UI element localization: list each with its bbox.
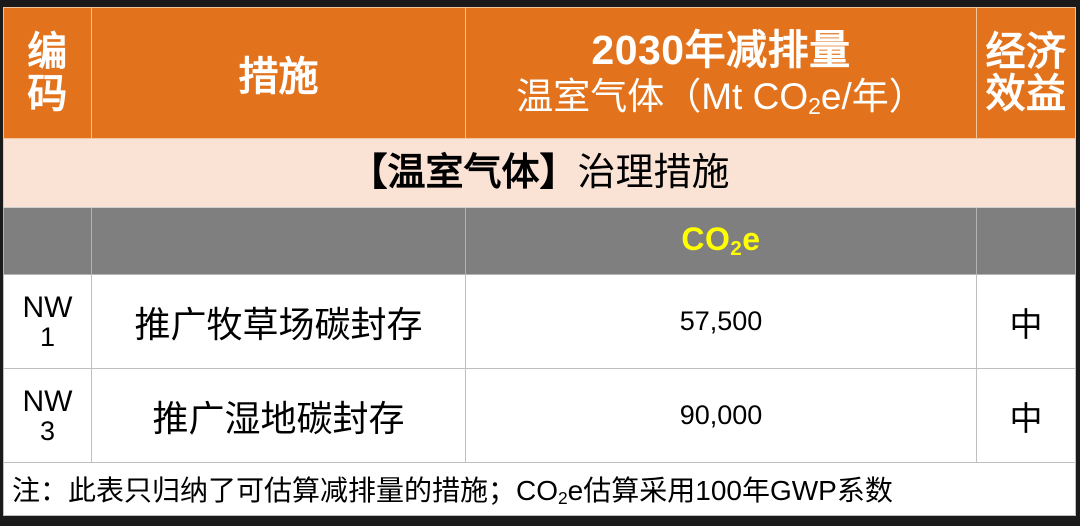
column-header-reduction-line1: 2030年减排量 bbox=[466, 26, 976, 74]
table-row: NW 3 推广湿地碳封存 90,000 中 bbox=[4, 369, 1076, 463]
cell-code: NW 1 bbox=[4, 275, 92, 369]
gas-subheader-row: CO2e bbox=[4, 208, 1076, 275]
cell-economic-benefit: 中 bbox=[977, 275, 1076, 369]
gas-subheader-econ-cell bbox=[977, 208, 1076, 275]
table-header-row: 编 码 措施 2030年减排量 温室气体（Mt CO2e/年） 经济 bbox=[4, 8, 1076, 139]
footnote-prefix: 注：此表只归纳了可估算减排量的措施；CO bbox=[12, 475, 558, 506]
emission-measures-table: 编 码 措施 2030年减排量 温室气体（Mt CO2e/年） 经济 bbox=[3, 7, 1076, 516]
footnote-cell: 注：此表只归纳了可估算减排量的措施；CO2e估算采用100年GWP系数 bbox=[4, 463, 1076, 516]
table-footnote-row: 注：此表只归纳了可估算减排量的措施；CO2e估算采用100年GWP系数 bbox=[4, 463, 1076, 516]
footnote-text: 注：此表只归纳了可估算减排量的措施；CO2e估算采用100年GWP系数 bbox=[12, 475, 893, 506]
footnote-suffix: e估算采用100年GWP系数 bbox=[568, 475, 893, 506]
code-number: 1 bbox=[4, 324, 91, 351]
column-header-code-line2: 码 bbox=[4, 73, 91, 115]
cell-reduction-value: 90,000 bbox=[466, 369, 977, 463]
section-title-bracket: 【温室气体】 bbox=[349, 152, 577, 194]
gas-subheader-measure-cell bbox=[92, 208, 466, 275]
section-title-text: 【温室气体】治理措施 bbox=[349, 152, 729, 194]
footnote-subscript: 2 bbox=[558, 488, 568, 508]
cell-measure: 推广湿地碳封存 bbox=[92, 369, 466, 463]
reduction-unit-suffix: e/年） bbox=[821, 76, 926, 117]
code-prefix: NW bbox=[4, 293, 91, 323]
table-row: NW 1 推广牧草场碳封存 57,500 中 bbox=[4, 275, 1076, 369]
gas-subheader-code-cell bbox=[4, 208, 92, 275]
section-title-cell: 【温室气体】治理措施 bbox=[4, 139, 1076, 208]
gas-label-suffix: e bbox=[742, 221, 760, 257]
gas-subheader-value-cell: CO2e bbox=[466, 208, 977, 275]
column-header-reduction-line2: 温室气体（Mt CO2e/年） bbox=[466, 75, 976, 120]
section-title-rest: 治理措施 bbox=[578, 152, 730, 194]
column-header-code: 编 码 bbox=[4, 8, 92, 139]
column-header-econ-line1: 经济 bbox=[977, 31, 1075, 73]
cell-economic-benefit: 中 bbox=[977, 369, 1076, 463]
column-header-reduction: 2030年减排量 温室气体（Mt CO2e/年） bbox=[466, 8, 977, 139]
gas-label-subscript: 2 bbox=[730, 237, 742, 260]
code-number: 3 bbox=[4, 418, 91, 445]
gas-label-prefix: CO bbox=[681, 221, 730, 257]
column-header-economic-benefit: 经济 效益 bbox=[977, 8, 1076, 139]
slide-canvas: 编 码 措施 2030年减排量 温室气体（Mt CO2e/年） 经济 bbox=[0, 0, 1080, 526]
column-header-measure: 措施 bbox=[92, 8, 466, 139]
reduction-unit-subscript: 2 bbox=[808, 93, 821, 119]
cell-code: NW 3 bbox=[4, 369, 92, 463]
column-header-measure-label: 措施 bbox=[92, 44, 465, 102]
cell-reduction-value: 57,500 bbox=[466, 275, 977, 369]
reduction-unit-prefix: 温室气体（Mt CO bbox=[516, 76, 808, 117]
cell-measure: 推广牧草场碳封存 bbox=[92, 275, 466, 369]
column-header-econ-line2: 效益 bbox=[977, 73, 1075, 115]
column-header-code-line1: 编 bbox=[4, 31, 91, 73]
gas-label-co2e: CO2e bbox=[681, 221, 760, 257]
section-title-row: 【温室气体】治理措施 bbox=[4, 139, 1076, 208]
code-prefix: NW bbox=[4, 387, 91, 417]
emission-measures-table-wrapper: 编 码 措施 2030年减排量 温室气体（Mt CO2e/年） 经济 bbox=[3, 7, 1075, 512]
